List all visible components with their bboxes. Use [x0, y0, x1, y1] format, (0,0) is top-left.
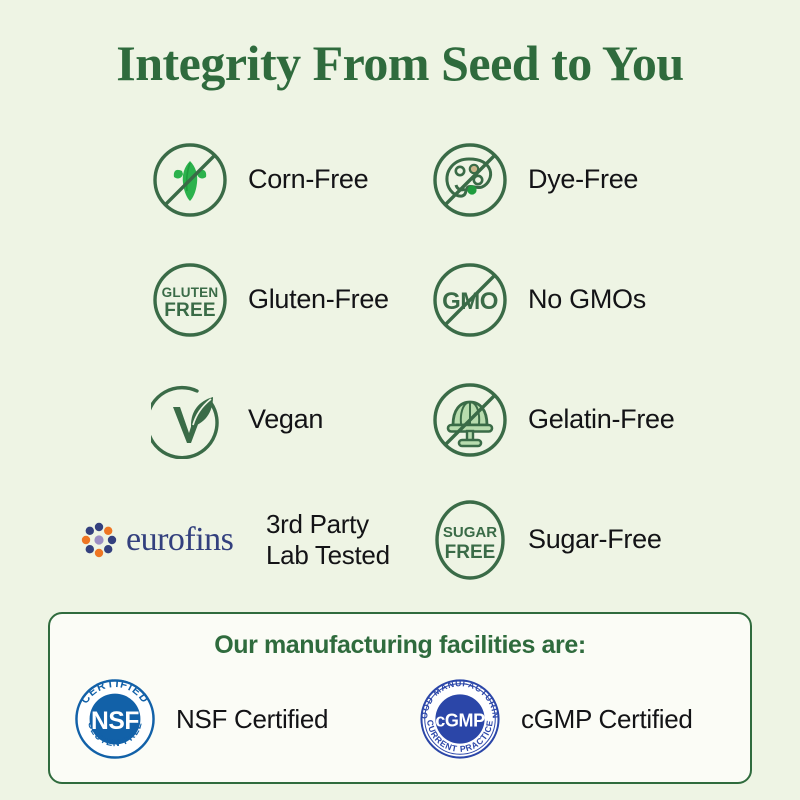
eurofins-logo: eurofins: [78, 519, 248, 561]
certification-cgmp: GOOD MANUFACTURING CURRENT PRACTICE cGMP…: [419, 678, 693, 760]
manufacturing-panel: Our manufacturing facilities are: CERTIF…: [48, 612, 752, 784]
free-text: FREE: [164, 300, 215, 321]
eurofins-wordmark: eurofins: [126, 521, 233, 559]
badge-label: 3rd Party Lab Tested: [266, 509, 390, 570]
badge-lab-tested: eurofins 3rd Party Lab Tested: [150, 509, 420, 570]
no-palette-icon: [430, 140, 510, 220]
certification-label: cGMP Certified: [521, 704, 693, 735]
gluten-text: GLUTEN: [162, 285, 219, 300]
badge-dye-free: Dye-Free: [430, 140, 730, 220]
badge-row: Corn-Free Dye-Free: [0, 120, 800, 240]
badge-sugar-free: SUGAR FREE Sugar-Free: [430, 500, 730, 580]
badge-label: Dye-Free: [528, 164, 638, 196]
badge-gluten-free: GLUTEN FREE Gluten-Free: [150, 260, 420, 340]
sugar-free-icon: SUGAR FREE: [430, 500, 510, 580]
cgmp-center-text: cGMP: [435, 710, 485, 730]
certification-row: CERTIFIED GLUTEN-FREE NSF NSF Certified: [50, 678, 750, 760]
badge-label: Corn-Free: [248, 164, 368, 196]
eurofins-dots-icon: [78, 519, 120, 561]
badge-grid: Corn-Free Dye-Free: [0, 120, 800, 600]
panel-heading: Our manufacturing facilities are:: [50, 631, 750, 660]
no-corn-icon: [150, 140, 230, 220]
badge-row: eurofins 3rd Party Lab Tested SUGAR FREE…: [0, 480, 800, 600]
gluten-free-icon: GLUTEN FREE: [150, 260, 230, 340]
badge-label: No GMOs: [528, 284, 646, 316]
badge-label: Gluten-Free: [248, 284, 389, 316]
badge-label: Vegan: [248, 404, 323, 436]
no-gmo-icon: GMO: [430, 260, 510, 340]
badge-no-gmos: GMO No GMOs: [430, 260, 730, 340]
vegan-leaf-v-icon: [150, 380, 230, 460]
badge-vegan: Vegan: [150, 380, 420, 460]
no-gelatin-icon: [430, 380, 510, 460]
badge-row: GLUTEN FREE Gluten-Free GMO No GMOs: [0, 240, 800, 360]
certification-nsf: CERTIFIED GLUTEN-FREE NSF NSF Certified: [74, 678, 419, 760]
badge-label: Gelatin-Free: [528, 404, 674, 436]
sugar-text: SUGAR: [443, 524, 497, 541]
certification-label: NSF Certified: [176, 704, 328, 735]
badge-label: Sugar-Free: [528, 524, 662, 556]
cgmp-certified-seal: GOOD MANUFACTURING CURRENT PRACTICE cGMP: [419, 678, 501, 760]
badge-corn-free: Corn-Free: [150, 140, 420, 220]
nsf-certified-gluten-free-seal: CERTIFIED GLUTEN-FREE NSF: [74, 678, 156, 760]
badge-row: Vegan Gelatin-Free: [0, 360, 800, 480]
nsf-center-text: NSF: [91, 708, 139, 735]
free-text: FREE: [445, 542, 496, 563]
badge-gelatin-free: Gelatin-Free: [430, 380, 730, 460]
infographic-page: Integrity From Seed to You Corn-Free: [0, 0, 800, 800]
page-title: Integrity From Seed to You: [0, 34, 800, 92]
